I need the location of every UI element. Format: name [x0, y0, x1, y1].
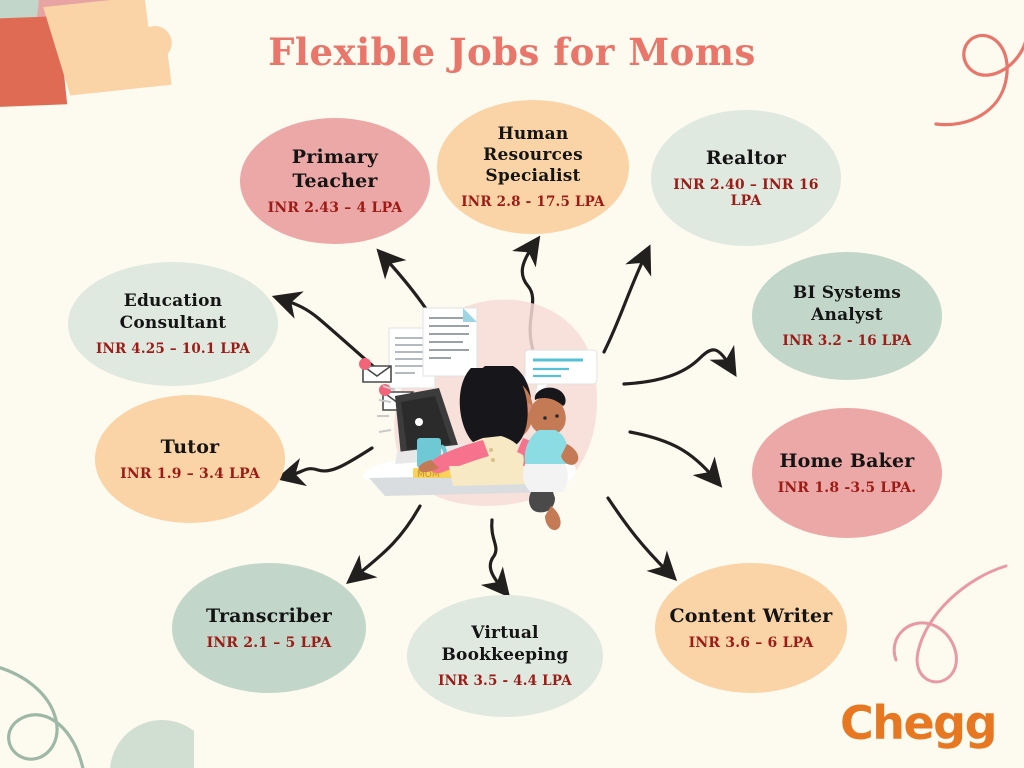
sage-swirl-bottom-left [0, 624, 194, 768]
job-salary: INR 2.40 – INR 16 LPA [663, 177, 829, 209]
job-salary: INR 2.43 – 4 LPA [268, 200, 403, 216]
job-bubble-human-resources-specialist[interactable]: Human Resources SpecialistINR 2.8 - 17.5… [437, 100, 629, 234]
job-bubble-realtor[interactable]: RealtorINR 2.40 – INR 16 LPA [651, 110, 841, 246]
job-bubble-education-consultant[interactable]: Education ConsultantINR 4.25 – 10.1 LPA [68, 262, 278, 386]
puzzle-pieces-top-left [0, 0, 192, 150]
job-title: Tutor [161, 436, 220, 460]
job-bubble-tutor[interactable]: TutorINR 1.9 – 3.4 LPA [95, 395, 285, 523]
job-title: Home Baker [779, 450, 914, 474]
job-bubble-primary-teacher[interactable]: Primary TeacherINR 2.43 – 4 LPA [240, 118, 430, 244]
job-bubble-home-baker[interactable]: Home BakerINR 1.8 -3.5 LPA. [752, 408, 942, 538]
job-title: Content Writer [669, 605, 832, 629]
job-title: Realtor [706, 147, 786, 171]
job-salary: INR 1.9 – 3.4 LPA [120, 466, 260, 482]
job-salary: INR 2.1 – 5 LPA [207, 635, 332, 651]
job-bubble-content-writer[interactable]: Content WriterINR 3.6 – 6 LPA [655, 563, 847, 693]
job-bubble-transcriber[interactable]: TranscriberINR 2.1 – 5 LPA [172, 563, 366, 693]
job-salary: INR 2.8 - 17.5 LPA [461, 194, 604, 210]
job-title: Human Resources Specialist [449, 124, 617, 188]
working-mother-illustration: MOM [355, 270, 655, 540]
job-title: BI Systems Analyst [764, 283, 930, 326]
job-bubble-bi-systems-analyst[interactable]: BI Systems AnalystINR 3.2 - 16 LPA [752, 252, 942, 380]
chegg-logo: Chegg [840, 696, 996, 750]
job-salary: INR 3.2 - 16 LPA [783, 333, 912, 349]
page-title: Flexible Jobs for Moms [0, 30, 1024, 74]
pink-swirl-bottom-right [878, 552, 1018, 692]
job-salary: INR 1.8 -3.5 LPA. [778, 480, 917, 496]
job-salary: INR 3.5 - 4.4 LPA [438, 673, 572, 689]
job-title: Education Consultant [80, 291, 266, 334]
job-title: Transcriber [206, 605, 332, 629]
coral-swirl-top-right [928, 4, 1024, 144]
job-salary: INR 3.6 – 6 LPA [689, 635, 814, 651]
job-salary: INR 4.25 – 10.1 LPA [96, 341, 250, 357]
document-icons [389, 308, 477, 388]
job-title: Virtual Bookkeeping [419, 623, 591, 666]
job-bubble-virtual-bookkeeping[interactable]: Virtual BookkeepingINR 3.5 - 4.4 LPA [407, 595, 603, 717]
job-title: Primary Teacher [252, 146, 418, 194]
infographic-canvas: Flexible Jobs for Moms [0, 0, 1024, 768]
